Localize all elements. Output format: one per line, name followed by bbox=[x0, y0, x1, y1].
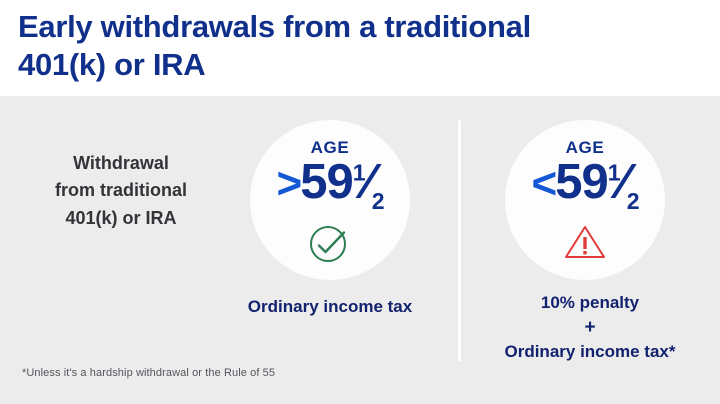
outcome-under-age-line-1: 10% penalty bbox=[470, 290, 710, 316]
column-divider bbox=[458, 120, 461, 362]
footnote-text: *Unless it's a hardship withdrawal or th… bbox=[22, 367, 275, 379]
page-title: Early withdrawals from a traditional 401… bbox=[18, 8, 618, 84]
fraction-denominator-right: 2 bbox=[627, 188, 639, 214]
status-icon-wrap-right bbox=[505, 220, 665, 264]
fraction-one-half-right: 1⁄2 bbox=[608, 158, 639, 207]
source-account-label: Withdrawal from traditional 401(k) or IR… bbox=[14, 150, 228, 232]
age-value-right: <591⁄2 bbox=[479, 158, 691, 207]
warning-triangle-icon bbox=[562, 220, 608, 264]
source-line-1: Withdrawal bbox=[14, 150, 228, 177]
check-circle-icon bbox=[307, 220, 353, 266]
fraction-denominator-left: 2 bbox=[372, 188, 384, 214]
fraction-numerator-left: 1 bbox=[353, 160, 365, 186]
outcome-under-age: 10% penalty + Ordinary income tax* bbox=[470, 290, 710, 365]
fraction-numerator-right: 1 bbox=[608, 160, 620, 186]
outcome-under-age-plus: + bbox=[470, 316, 710, 340]
status-icon-wrap-left bbox=[250, 220, 410, 266]
age-value-left: >591⁄2 bbox=[224, 158, 436, 207]
source-line-3: 401(k) or IRA bbox=[14, 205, 228, 232]
outcome-over-age: Ordinary income tax bbox=[230, 294, 430, 320]
outcome-under-age-line-3: Ordinary income tax* bbox=[470, 339, 710, 365]
source-line-2: from traditional bbox=[14, 177, 228, 204]
age-number-right: 59 bbox=[555, 155, 608, 209]
branch-circle-over-age: AGE >591⁄2 bbox=[250, 120, 410, 280]
comparator-less-than: < bbox=[531, 159, 555, 208]
comparator-greater-than: > bbox=[276, 159, 300, 208]
age-number-left: 59 bbox=[300, 155, 353, 209]
infographic-root: Early withdrawals from a traditional 401… bbox=[0, 0, 720, 404]
branch-circle-under-age: AGE <591⁄2 bbox=[505, 120, 665, 280]
outcome-over-age-line-1: Ordinary income tax bbox=[230, 294, 430, 320]
fraction-one-half-left: 1⁄2 bbox=[353, 158, 384, 207]
